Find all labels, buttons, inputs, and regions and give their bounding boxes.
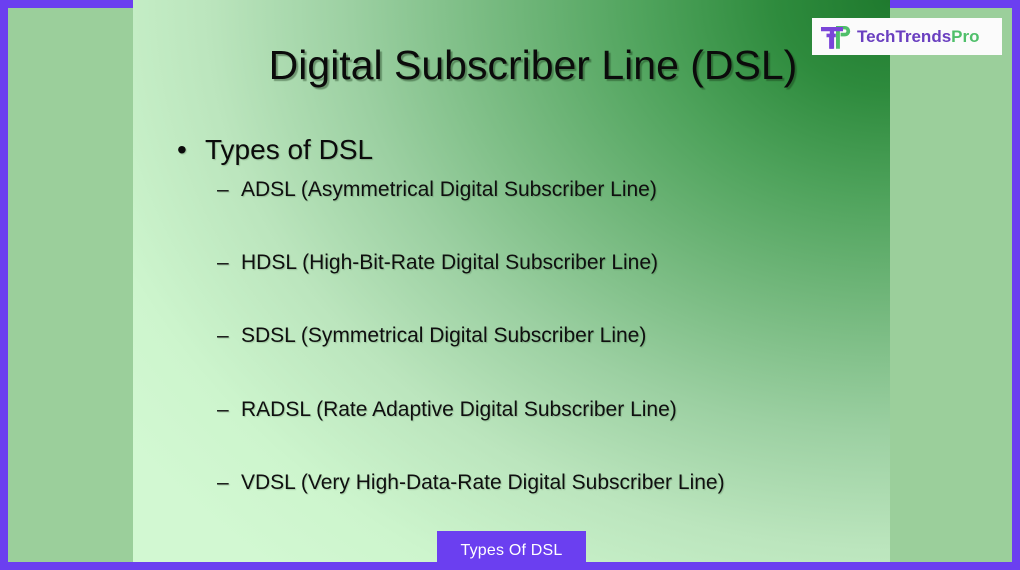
list-item-label: RADSL (Rate Adaptive Digital Subscriber … [241,397,677,422]
slide-frame: Digital Subscriber Line (DSL) • Types of… [0,0,1020,570]
list-item: – SDSL (Symmetrical Digital Subscriber L… [133,323,890,348]
dsl-types-list: – ADSL (Asymmetrical Digital Subscriber … [133,177,890,495]
list-item: – VDSL (Very High-Data-Rate Digital Subs… [133,470,890,495]
tp-monogram-icon [818,23,852,51]
caption-badge: Types Of DSL [437,531,586,570]
brand-logo-text: TechTrendsPro [857,28,980,45]
caption-label: Types Of DSL [461,542,563,560]
content-list: • Types of DSL – ADSL (Asymmetrical Digi… [133,132,890,495]
list-item-label: HDSL (High-Bit-Rate Digital Subscriber L… [241,250,658,275]
bullet-dot-icon: • [177,132,187,167]
list-item: – HDSL (High-Bit-Rate Digital Subscriber… [133,250,890,275]
dash-bullet-icon: – [217,397,229,422]
brand-name-secondary: Pro [951,27,979,46]
list-item-label: ADSL (Asymmetrical Digital Subscriber Li… [241,177,657,202]
dash-bullet-icon: – [217,177,229,202]
dash-bullet-icon: – [217,470,229,495]
brand-name-primary: TechTrends [857,27,951,46]
list-item: – RADSL (Rate Adaptive Digital Subscribe… [133,397,890,422]
dash-bullet-icon: – [217,323,229,348]
list-item-label: VDSL (Very High-Data-Rate Digital Subscr… [241,470,725,495]
dash-bullet-icon: – [217,250,229,275]
page-title: Digital Subscriber Line (DSL) [213,42,853,89]
heading-label: Types of DSL [205,132,373,167]
list-item-label: SDSL (Symmetrical Digital Subscriber Lin… [241,323,646,348]
list-item: – ADSL (Asymmetrical Digital Subscriber … [133,177,890,202]
brand-logo: TechTrendsPro [812,18,1002,55]
list-item-heading: • Types of DSL [133,132,890,167]
presentation-slide: Digital Subscriber Line (DSL) • Types of… [133,0,890,562]
